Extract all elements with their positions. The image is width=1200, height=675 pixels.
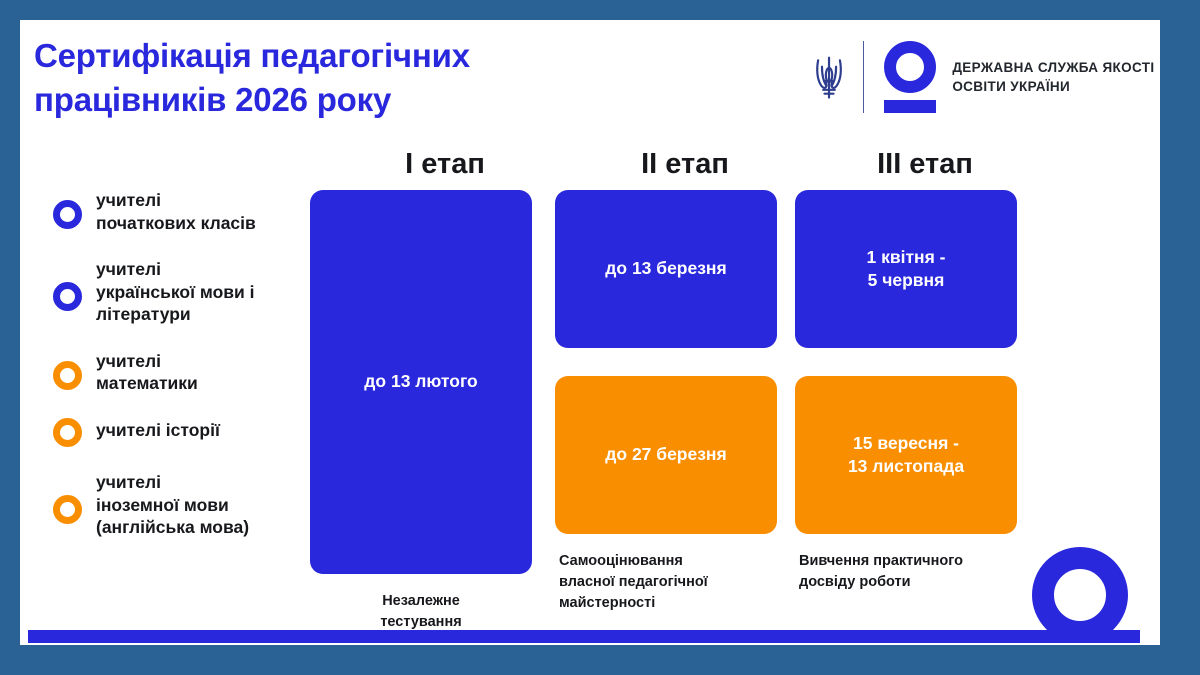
ukraine-trident-icon [813,41,845,113]
bullet-ring-icon [53,200,82,229]
slide-canvas: Сертифікація педагогічних працівників 20… [0,0,1200,675]
list-item-label: учителі початкових класів [96,188,256,234]
stage-date-chip: до 13 лютого [310,190,532,574]
mark-ring-shape [884,41,936,93]
stage-date-chip: 1 квітня - 5 червня [795,190,1017,348]
list-item: учителі іноземної мови (англійська мова) [53,470,318,539]
logo-text: ДЕРЖАВНА СЛУЖБА ЯКОСТІ ОСВІТИ УКРАЇНИ [952,58,1160,97]
mark-bar-shape [884,100,936,113]
list-item-label: учителі математики [96,349,198,395]
stage-date-chip: 15 вересня - 13 листопада [795,376,1017,534]
list-item: учителі початкових класів [53,188,318,234]
list-item-label: учителі української мови і літератури [96,257,255,326]
stage-heading-2: II етап [565,148,805,181]
stage-column-3: 1 квітня - 5 червня 15 вересня - 13 лист… [795,190,1017,593]
decorative-ring-icon [1032,547,1128,643]
bullet-ring-icon [53,282,82,311]
stage-caption: Самооцінювання власної педагогічної майс… [555,551,777,614]
bottom-accent-bar [28,630,1140,643]
stage-column-1: до 13 лютого Незалежне тестування [310,190,532,633]
stage-caption: Незалежне тестування [310,591,532,633]
bullet-ring-icon [53,418,82,447]
stage-heading-3: III етап [805,148,1045,181]
list-item-label: учителі іноземної мови (англійська мова) [96,470,249,539]
stage-date-chip: до 13 березня [555,190,777,348]
audience-list: учителі початкових класів учителі україн… [53,188,318,539]
logo-divider [863,41,864,113]
list-item: учителі української мови і літератури [53,257,318,326]
infographic-card: Сертифікація педагогічних працівників 20… [20,20,1160,645]
list-item-label: учителі історії [96,418,220,442]
stage-column-2: до 13 березня до 27 березня Самооцінюван… [555,190,777,614]
stage-caption: Вивчення практичного досвіду роботи [795,551,1017,593]
stage-date-chip: до 27 березня [555,376,777,534]
bullet-ring-icon [53,495,82,524]
list-item: учителі історії [53,418,318,447]
stage-heading-1: I етап [310,148,580,181]
page-title: Сертифікація педагогічних працівників 20… [34,34,654,121]
list-item: учителі математики [53,349,318,395]
organization-logo: ДЕРЖАВНА СЛУЖБА ЯКОСТІ ОСВІТИ УКРАЇНИ [813,31,1160,123]
sqe-circle-mark-icon [884,41,936,113]
bullet-ring-icon [53,361,82,390]
